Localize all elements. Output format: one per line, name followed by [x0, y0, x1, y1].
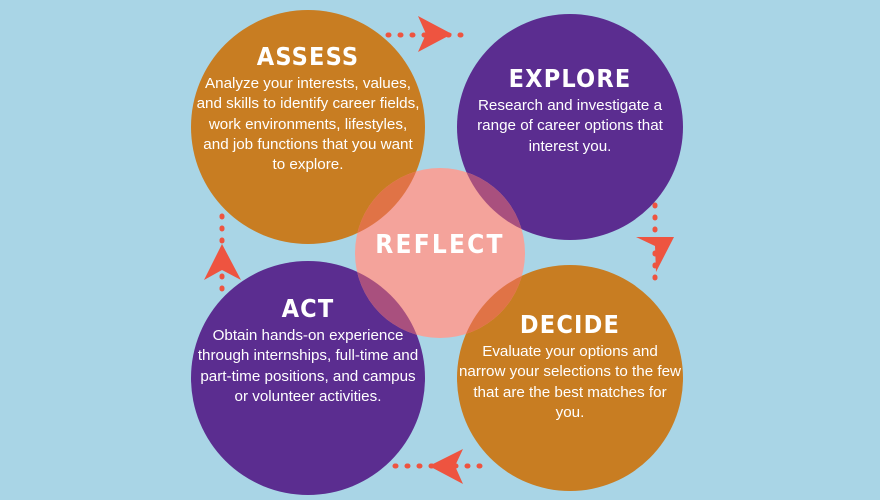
arrow-decide-to-act	[395, 449, 490, 484]
diagram-canvas	[0, 0, 880, 500]
arrow-act-to-assess	[204, 216, 241, 296]
arrow-explore-to-decide	[636, 205, 674, 288]
career-cycle-diagram: ASSESS Analyze your interests, values, a…	[0, 0, 880, 500]
arrow-assess-to-explore	[388, 16, 468, 52]
